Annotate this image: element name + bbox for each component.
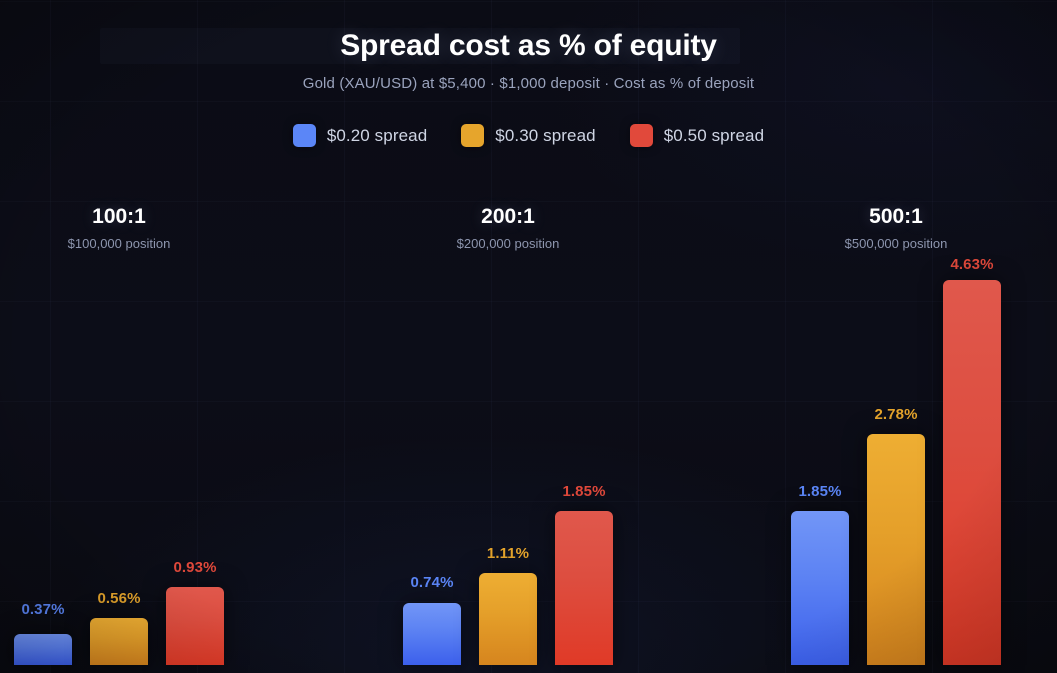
bar-200-1-spread-030[interactable] [479, 573, 537, 665]
group-position-200-1: $200,000 position [393, 235, 623, 252]
legend-item-spread-030[interactable]: $0.30 spread [461, 124, 595, 147]
legend-swatch-icon-red [630, 124, 653, 147]
legend-swatch-icon-blue [293, 124, 316, 147]
bar-100-1-spread-020[interactable] [14, 634, 72, 665]
bar-500-1-spread-050[interactable] [943, 280, 1001, 665]
bar-value-500-1-spread-020: 1.85% [770, 482, 870, 501]
group-ratio-500-1: 500:1 [781, 204, 1011, 230]
legend-swatch-icon-orange [461, 124, 484, 147]
bar-100-1-spread-030[interactable] [90, 618, 148, 665]
legend-label-spread-050: $0.50 spread [664, 126, 764, 146]
bar-value-100-1-spread-050: 0.93% [145, 558, 245, 577]
bar-500-1-spread-030[interactable] [867, 434, 925, 665]
group-header-100-1: 100:1 $100,000 position [4, 204, 234, 252]
bar-100-1-spread-050[interactable] [166, 587, 224, 665]
chart-legend: $0.20 spread $0.30 spread $0.50 spread [0, 124, 1057, 147]
chart-header: Spread cost as % of equity Gold (XAU/USD… [0, 26, 1057, 94]
bar-200-1-spread-050[interactable] [555, 511, 613, 665]
legend-item-spread-050[interactable]: $0.50 spread [630, 124, 764, 147]
legend-label-spread-030: $0.30 spread [495, 126, 595, 146]
bar-value-500-1-spread-030: 2.78% [846, 405, 946, 424]
group-position-100-1: $100,000 position [4, 235, 234, 252]
bar-200-1-spread-020[interactable] [403, 603, 461, 665]
bar-value-200-1-spread-030: 1.11% [458, 544, 558, 563]
group-ratio-100-1: 100:1 [4, 204, 234, 230]
bar-value-200-1-spread-020: 0.74% [382, 573, 482, 592]
bar-value-200-1-spread-050: 1.85% [534, 482, 634, 501]
bar-value-500-1-spread-050: 4.63% [922, 255, 1022, 274]
chart-canvas: Spread cost as % of equity Gold (XAU/USD… [0, 0, 1057, 673]
chart-subtitle: Gold (XAU/USD) at $5,400 · $1,000 deposi… [0, 74, 1057, 94]
legend-label-spread-020: $0.20 spread [327, 126, 427, 146]
bar-value-100-1-spread-030: 0.56% [69, 589, 169, 608]
group-header-500-1: 500:1 $500,000 position [781, 204, 1011, 252]
legend-item-spread-020[interactable]: $0.20 spread [293, 124, 427, 147]
group-position-500-1: $500,000 position [781, 235, 1011, 252]
page-title: Spread cost as % of equity [0, 26, 1057, 66]
group-header-200-1: 200:1 $200,000 position [393, 204, 623, 252]
group-ratio-200-1: 200:1 [393, 204, 623, 230]
bar-500-1-spread-020[interactable] [791, 511, 849, 665]
